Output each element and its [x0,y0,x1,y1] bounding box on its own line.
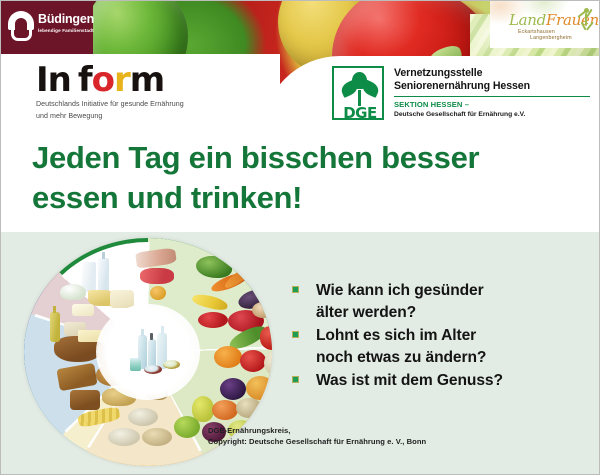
inform-word-f: f [78,60,92,100]
list-item-line2: noch etwas zu ändern? [316,347,486,369]
herbal-tea-cup-icon [163,360,180,369]
food-peach-icon [246,376,272,400]
inform-tagline-line1: Deutschlands Initiative für gesunde Ernä… [36,100,266,110]
food-bulgur-bowl-icon [142,428,172,446]
bullet-square-icon [292,331,299,338]
food-milk-bottle-icon [98,258,109,292]
inform-logo-wordmark: Inform [36,62,266,98]
content-section: DGE-Ernährungskreis, Copyright: Deutsche… [0,232,600,475]
questions-list: Wie kann ich gesünder älter werden? Lohn… [292,280,592,393]
water-bottle-2-icon [148,339,156,369]
dge-title: Vernetzungsstelle Seniorenernährung Hess… [394,67,599,94]
food-rice-bowl-icon [108,428,140,446]
list-item-text: Lohnt es sich im Alter noch etwas zu änd… [316,325,486,369]
inform-word-o: o [92,60,114,100]
dancing-figure-icon [576,8,594,38]
food-meat-icon [140,268,174,284]
inform-tagline-line2: und mehr Bewegung [36,112,266,122]
dge-title-line1: Vernetzungsstelle [394,67,599,80]
food-oil-bottle-icon [50,312,60,342]
landfrauen-subtitle-line2: Langenbergheim [530,35,572,42]
food-apricot-icon [212,400,238,420]
list-item: Wie kann ich gesünder älter werden? [292,280,592,324]
food-egg-icon [150,286,166,300]
landfrauen-word-land: Land [509,11,546,29]
dge-logo: DGE Vernetzungsstelle Seniorenernährung … [332,65,600,123]
page-title: Jeden Tag ein bisschen besser essen und … [32,138,552,218]
inform-word-m: m [130,60,164,100]
caption-line1: DGE-Ernährungskreis, [208,425,538,436]
page-title-line2: essen und trinken! [32,178,552,218]
dge-section-label: SEKTION HESSEN – [394,100,469,110]
food-quark-bowl-icon [60,284,86,300]
dge-title-line2: Seniorenernährung Hessen [394,80,599,93]
food-blueberries-icon [220,378,246,400]
bullet-square-icon [292,376,299,383]
food-apple-icon [174,416,200,438]
list-item-line2: älter werden? [316,302,484,324]
caption-line2: Copyright: Deutsche Gesellschaft für Ern… [208,436,538,447]
food-cheese-slices-icon [110,290,134,308]
dge-logo-panel: DGE Vernetzungsstelle Seniorenernährung … [262,56,600,136]
inform-logo-panel: Inform Deutschlands Initiative für gesun… [0,54,280,132]
buedingen-logo: Büdingen lebendige Familienstadt [8,8,90,48]
list-item-line1: Lohnt es sich im Alter [316,325,486,347]
bullet-square-icon [292,286,299,293]
buedingen-logo-name: Büdingen [38,12,94,26]
food-onion-icon [252,302,272,318]
ernaehrungskreis-center-getraenke [96,304,200,400]
list-item-text: Was ist mit dem Genuss? [316,370,503,392]
slide: Büdingen lebendige Familienstadt Inform … [0,0,600,475]
dge-divider [394,96,590,97]
list-item-line1: Was ist mit dem Genuss? [316,370,503,392]
tea-cup-icon [144,365,162,374]
food-roll-icon [70,390,100,410]
list-item-line1: Wie kann ich gesünder [316,280,484,302]
landfrauen-logo-panel: LandFrauen Eckartshausen Langenbergheim [490,0,600,48]
list-item: Was ist mit dem Genuss? [292,370,592,392]
page-title-line1: Jeden Tag ein bisschen besser [32,138,552,178]
list-item: Lohnt es sich im Alter noch etwas zu änd… [292,325,592,369]
dge-society-label: Deutsche Gesellschaft für Ernährung e.V. [394,110,525,119]
food-tomato-icon [240,350,266,372]
list-item-text: Wie kann ich gesünder älter werden? [316,280,484,324]
inform-word-r: r [114,60,130,100]
food-orange-icon [214,346,242,368]
food-currants-icon [198,312,228,328]
buedingen-logo-subtitle: lebendige Familienstadt [38,28,94,34]
food-camembert-icon [72,304,94,316]
water-glass-icon [130,358,141,371]
food-oats-bowl-icon [128,408,158,426]
three-leaf-plant-icon: DGE [332,66,384,120]
image-credit-caption: DGE-Ernährungskreis, Copyright: Deutsche… [208,425,538,447]
dge-abbreviation: DGE [334,104,386,122]
arch-monument-icon [8,11,34,41]
inform-word-in: In [36,60,71,100]
food-mushroom-icon [236,398,262,418]
